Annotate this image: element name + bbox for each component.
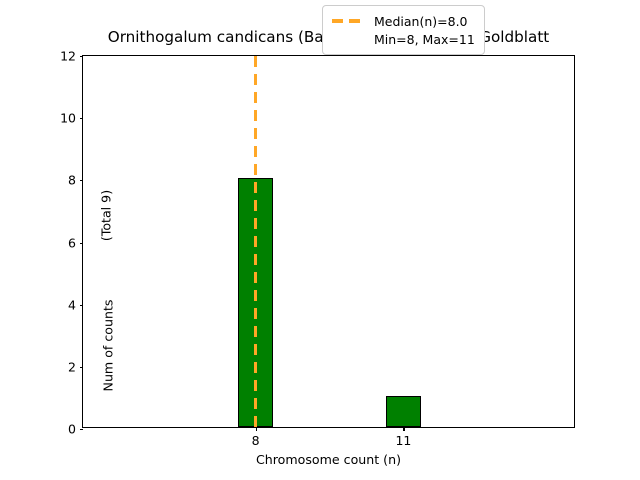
x-tick-mark (403, 427, 404, 431)
legend-item-median: Median(n)=8.0 (331, 12, 475, 30)
y-tick-label: 2 (68, 359, 76, 374)
y-tick-mark (80, 56, 84, 57)
y-tick-mark (80, 118, 84, 119)
x-tick-mark (256, 427, 257, 431)
y-axis-label: Num of counts (101, 266, 116, 426)
x-axis-label: Chromosome count (n) (82, 452, 575, 467)
legend-item-range: Min=8, Max=11 (331, 30, 475, 48)
y-tick-mark (80, 367, 84, 368)
y-tick-label: 4 (68, 297, 76, 312)
y-tick-label: 6 (68, 235, 76, 250)
y-tick-label: 0 (68, 422, 76, 437)
dashed-line-icon (331, 14, 365, 28)
median-line-layer (83, 56, 574, 427)
y-tick-label: 8 (68, 173, 76, 188)
x-tick-label: 11 (395, 433, 411, 448)
legend-label-median: Median(n)=8.0 (374, 14, 468, 29)
plot-area: 024681012 811 Num of counts (Total 9) (82, 55, 575, 428)
y-tick-mark (80, 180, 84, 181)
chart-figure: Ornithogalum candicans (Baker) J. C. Man… (0, 0, 640, 480)
y-tick-mark (80, 305, 84, 306)
y-axis-label-secondary: (Total 9) (99, 156, 114, 276)
y-tick-mark (80, 243, 84, 244)
median-line (254, 56, 257, 427)
y-tick-mark (80, 429, 84, 430)
y-tick-label: 12 (60, 49, 76, 64)
legend-label-range: Min=8, Max=11 (374, 32, 475, 47)
x-tick-label: 8 (252, 433, 260, 448)
legend: Median(n)=8.0 Min=8, Max=11 (322, 5, 485, 55)
y-tick-label: 10 (60, 111, 76, 126)
